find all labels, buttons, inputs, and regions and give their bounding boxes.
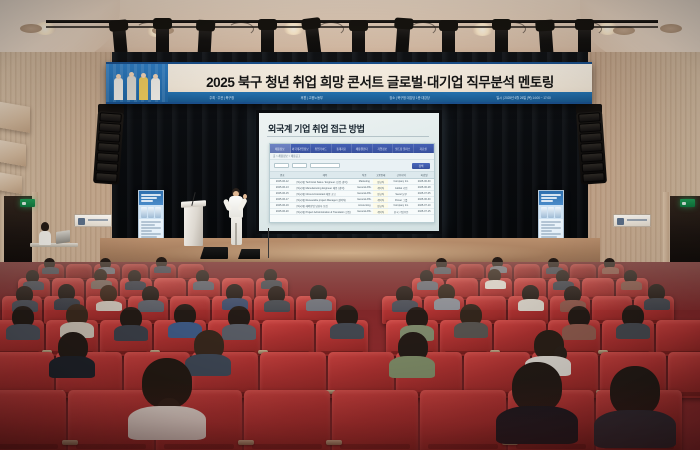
truss-cable — [318, 22, 344, 36]
audience-shoulders — [154, 266, 171, 273]
standee-photo — [155, 207, 161, 218]
speaker-cell — [99, 112, 122, 123]
standee-header-line — [141, 194, 161, 196]
slide-browser-window: 채용정보 외국계기업정보 취업가이드 통계자료 채용캘린더 기업정보 월드잡 플… — [269, 143, 435, 223]
seat[interactable] — [656, 320, 700, 356]
banner-subtitle-item: 주최 · 주관 | 북구청 — [209, 95, 234, 100]
speaker-cell — [97, 142, 120, 153]
standee-photo — [548, 207, 554, 218]
audience-head — [610, 366, 660, 416]
plaque-text-line — [88, 219, 108, 221]
audience-member — [142, 358, 198, 420]
slide-nav-tab: 월드잡 플러스 — [393, 144, 414, 153]
auditorium-photo: 2025 북구 청년 취업 희망 콘서트 글로벌·대기업 직무분석 멘토링 주최… — [0, 0, 700, 450]
audience-member — [436, 258, 449, 272]
banner-subtitle-item: 장소 | 북구청 대강당 1층 대강당 — [389, 95, 429, 100]
audience-member — [406, 307, 432, 335]
audience-shoulders — [602, 267, 619, 274]
banner-title: 2025 북구 청년 취업 희망 콘서트 글로벌·대기업 직무분석 멘토링 — [174, 76, 586, 90]
audience-shoulders — [417, 281, 438, 290]
standee-header — [539, 191, 563, 205]
audience-shoulders — [306, 299, 332, 311]
audience-member — [622, 305, 648, 333]
slide-nav-bar: 채용정보 외국계기업정보 취업가이드 통계자료 채용캘린더 기업정보 월드잡 플… — [270, 144, 434, 153]
speaker-cell — [580, 142, 603, 153]
audience-member — [522, 285, 542, 307]
truss-cable — [228, 22, 254, 36]
plaque-logo-icon — [78, 218, 85, 225]
audience-shoulders — [616, 323, 650, 339]
audience-member — [120, 307, 146, 335]
banner-subtitle-item: 일시 | 2025년 6월 26일 (목) 14:00 ~ 17:00 — [496, 95, 550, 100]
audience-shoulders — [454, 322, 488, 338]
audience-shoulders — [330, 323, 364, 339]
audience-member — [568, 306, 594, 334]
audience-member — [648, 284, 668, 306]
speaker-cell — [95, 172, 118, 183]
standee-text-line — [541, 230, 552, 232]
audience-member — [398, 332, 432, 370]
acoustic-panel — [0, 172, 22, 195]
event-stage-banner: 2025 북구 청년 취업 희망 콘서트 글로벌·대기업 직무분석 멘토링 주최… — [106, 62, 592, 104]
audience-member — [228, 306, 254, 334]
audience-shoulders — [389, 356, 435, 378]
ceiling-vent — [20, 24, 42, 33]
audience-shoulders — [114, 325, 148, 341]
slide-td: 한국 기업부문 — [388, 209, 414, 215]
slide-search-button: 검색 — [412, 163, 430, 169]
banner-figure — [114, 78, 123, 100]
standee-header-line — [541, 194, 561, 196]
standee-photo — [541, 207, 547, 218]
audience-member — [512, 362, 568, 424]
standee-photo — [141, 207, 147, 218]
slide-table-row: 2025-06-20 [외국계] Project Administration … — [270, 209, 434, 215]
audience-member — [156, 257, 169, 271]
acoustic-panel — [0, 139, 26, 166]
armrest — [238, 440, 254, 445]
audience-member — [58, 284, 78, 306]
audience-member — [226, 284, 246, 306]
seat[interactable] — [244, 390, 330, 450]
audience-member — [624, 270, 640, 288]
lectern — [184, 204, 203, 246]
audience-shoulders — [96, 301, 122, 311]
slide-nav-tab: 통계자료 — [332, 144, 353, 153]
audience-member — [12, 306, 38, 334]
microphone-stand-icon — [268, 228, 269, 258]
audience-seating — [0, 262, 700, 450]
slide-td: 2025-06-20 — [270, 209, 295, 215]
audience-shoulders — [594, 410, 676, 448]
banner-subtitle-item: 후원 | 고용노동부 — [301, 95, 323, 100]
audience-shoulders — [193, 281, 214, 290]
banner-artwork — [106, 64, 168, 102]
exit-sign-left — [20, 199, 35, 207]
slide-td: 계약직 — [373, 209, 388, 215]
slide-results-table: 번호 제목 직종 고용형태 근무지역 마감일 2025-06-12 [외국계] … — [270, 172, 434, 215]
presenter — [225, 188, 247, 246]
audience-member — [488, 269, 504, 287]
banner-figure-head — [141, 73, 146, 78]
audience-shoulders — [128, 406, 206, 440]
audience-member — [460, 304, 486, 332]
seat[interactable] — [332, 390, 418, 450]
slide-nav-tab: 기업정보 — [373, 144, 394, 153]
line-array-speaker-left — [93, 111, 124, 185]
audience-member — [194, 330, 228, 368]
audience-member — [174, 304, 200, 332]
standee-header-line — [141, 200, 153, 202]
audience-member — [142, 286, 162, 308]
audience-shoulders — [485, 280, 506, 289]
audience-shoulders — [434, 267, 451, 274]
seat[interactable] — [0, 390, 66, 450]
audience-member — [564, 286, 584, 308]
audience-member — [604, 258, 617, 272]
banner-figure-head — [129, 72, 134, 77]
armrest — [326, 440, 342, 445]
ceiling-vent — [660, 24, 682, 33]
slide-nav-tab: 자료실 — [414, 144, 435, 153]
speaker-cell — [97, 152, 120, 163]
speaker-cell — [99, 122, 122, 133]
speaker-cell — [581, 152, 604, 163]
slide-title: 외국계 기업 취업 접근 방법 — [268, 122, 365, 135]
ceiling-downlight — [472, 23, 493, 36]
audience-member — [196, 270, 212, 288]
audience-member — [310, 285, 330, 307]
audience-member — [44, 258, 57, 272]
standee-text-line — [541, 233, 561, 235]
audience-member — [396, 286, 416, 308]
audience-shoulders — [434, 298, 460, 310]
standee-text-line — [141, 233, 161, 235]
standee-header-line — [541, 197, 557, 199]
audience-member — [264, 269, 280, 287]
audience-member — [58, 332, 92, 370]
acoustic-panel — [0, 101, 30, 133]
banner-figure — [151, 78, 160, 100]
seat[interactable] — [420, 390, 506, 450]
projection-screen-frame: 외국계 기업 취업 접근 방법 채용정보 외국계기업정보 취업가이드 통계자료 … — [256, 110, 442, 234]
standee-text-line — [141, 221, 161, 223]
speaker-cell — [582, 172, 605, 183]
slide-td: General Affs. — [355, 209, 373, 215]
audience-member — [420, 270, 436, 288]
truss-cable — [410, 22, 436, 36]
line-array-speaker-right — [576, 111, 607, 185]
slide-nav-tab: 외국계기업정보 — [291, 144, 312, 153]
presenter-hand — [243, 194, 247, 199]
standee-photo — [148, 207, 154, 218]
audience-member — [610, 366, 666, 428]
audience-shoulders — [49, 356, 95, 378]
plaque-text-line — [627, 219, 647, 221]
audience-shoulders — [42, 267, 59, 274]
exit-sign-right — [680, 199, 695, 207]
standee-photo — [555, 207, 561, 218]
audience-shoulders — [621, 281, 642, 290]
speaker-cell — [579, 122, 602, 133]
slide-nav-tab: 취업가이드 — [311, 144, 332, 153]
audience-shoulders — [264, 300, 290, 312]
audience-member — [438, 284, 458, 306]
slide-td: [외국계] Project Administration & Translato… — [295, 209, 356, 215]
banner-subtitle-bar: 주최 · 주관 | 북구청 후원 | 고용노동부 장소 | 북구청 대강당 1층… — [168, 92, 592, 102]
audience-member — [100, 285, 120, 307]
audience-member — [268, 286, 288, 308]
banner-figure — [127, 76, 136, 100]
slide-nav-tab: 채용캘린더 — [352, 144, 373, 153]
standee-header-line — [141, 197, 157, 199]
slide-breadcrumb: 홈 > 채용정보 > 채용공고 — [270, 153, 434, 160]
standee-text-line — [541, 227, 561, 229]
armrest — [62, 440, 78, 445]
audience-member — [66, 304, 92, 332]
audience-member — [336, 305, 362, 333]
wall-plaque-left — [74, 214, 112, 227]
banner-figure-head — [116, 74, 121, 79]
staff-laptop — [56, 230, 70, 244]
slide-category-select — [274, 163, 289, 168]
slide-title-underline — [267, 136, 429, 137]
slide-td: 2025-07-15 — [414, 209, 434, 215]
banner-figure — [139, 77, 148, 100]
standee-text-line — [541, 221, 561, 223]
speaker-cell — [578, 112, 601, 123]
speaker-cell — [98, 132, 121, 143]
plaque-logo-icon — [617, 218, 624, 225]
standee-text-line — [141, 230, 152, 232]
door-frame-right — [663, 192, 669, 262]
speaker-cell — [579, 132, 602, 143]
standee-photo-row — [539, 205, 563, 219]
slide-filter-row: 검색 — [270, 160, 434, 172]
speaker-cell — [96, 162, 119, 173]
banner-figure-head — [153, 74, 158, 79]
seat[interactable] — [262, 320, 314, 356]
audience-shoulders — [6, 324, 40, 340]
projection-screen: 외국계 기업 취업 접근 방법 채용정보 외국계기업정보 취업가이드 통계자료 … — [259, 113, 439, 231]
slide-region-select — [292, 163, 307, 168]
standee-header — [139, 191, 163, 205]
presenter-legs — [231, 217, 242, 245]
slide-nav-tab: 채용정보 — [270, 144, 291, 153]
staff-member — [38, 222, 52, 246]
stage-floor-monitor — [200, 247, 228, 259]
wall-plaque-right — [613, 214, 651, 227]
standee-photo-row — [139, 205, 163, 219]
speaker-cell — [582, 162, 605, 173]
slide-keyword-input — [310, 163, 340, 168]
stage-floor-monitor — [238, 249, 260, 259]
audience-member — [16, 286, 36, 308]
audience-head — [512, 362, 562, 412]
audience-shoulders — [518, 299, 544, 311]
audience-shoulders — [496, 406, 578, 444]
standee-text-line — [141, 224, 155, 226]
standee-text-line — [141, 227, 161, 229]
standee-text-line — [541, 224, 555, 226]
standee-header-line — [541, 200, 553, 202]
